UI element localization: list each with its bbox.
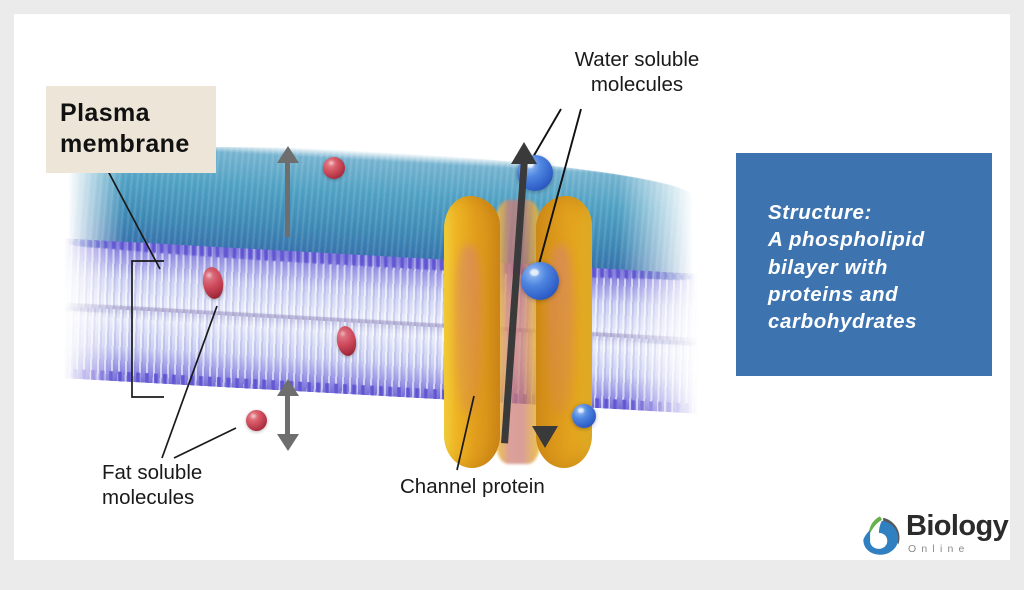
fat-soluble-molecule-below — [246, 410, 267, 431]
structure-info-text: Structure: A phospholipid bilayer with p… — [736, 153, 992, 335]
structure-info-box: Structure: A phospholipid bilayer with p… — [736, 153, 992, 376]
plasma-membrane-label-line2: membrane — [60, 129, 190, 160]
slide-canvas: Plasma membrane Water soluble molecules … — [14, 14, 1010, 560]
cell-membrane-illustration — [40, 124, 710, 454]
diffusion-arrow-up-head — [277, 146, 299, 163]
biology-online-logo[interactable]: Biology Online — [860, 512, 1024, 562]
fat-soluble-label-line2: molecules — [102, 485, 202, 510]
fat-soluble-molecules-label: Fat soluble molecules — [102, 460, 202, 510]
water-soluble-label-line1: Water soluble — [547, 47, 727, 72]
channel-protein-lobe-left — [444, 196, 500, 468]
logo-wordmark: Biology — [906, 512, 1008, 541]
diffusion-arrow-double-head-up — [277, 379, 299, 396]
fat-soluble-molecule-above — [323, 157, 345, 179]
channel-transport-arrow-head-down — [532, 426, 558, 448]
water-soluble-label-line2: molecules — [547, 72, 727, 97]
fat-soluble-label-line1: Fat soluble — [102, 460, 202, 485]
channel-protein-label: Channel protein — [400, 474, 545, 499]
plasma-membrane-label: Plasma membrane — [46, 86, 216, 173]
diffusion-arrow-double-shaft — [285, 392, 290, 436]
logo-subtitle: Online — [908, 543, 1008, 555]
diffusion-arrow-double-head-down — [277, 434, 299, 451]
water-soluble-molecule-in-channel — [521, 262, 559, 300]
biology-online-logo-text: Biology Online — [906, 512, 1008, 555]
diffusion-arrow-up-shaft — [285, 159, 290, 237]
biology-online-logo-icon — [860, 514, 902, 556]
channel-transport-arrow-head-up — [511, 142, 537, 164]
water-soluble-molecules-label: Water soluble molecules — [547, 47, 727, 97]
plasma-membrane-label-line1: Plasma — [60, 98, 190, 129]
water-soluble-molecule-below-channel — [572, 404, 596, 428]
